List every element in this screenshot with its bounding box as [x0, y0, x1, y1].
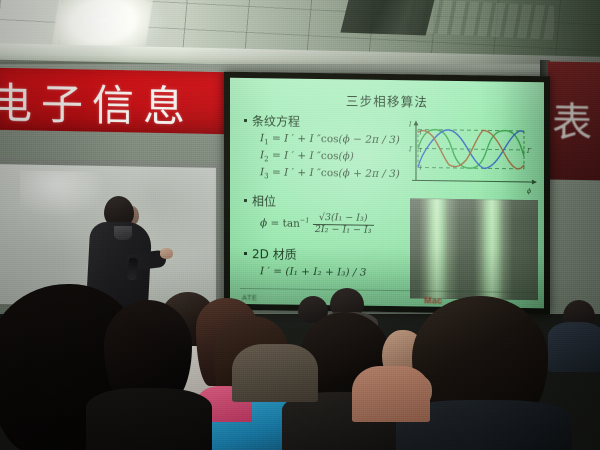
eq1-iprime: I ′	[284, 133, 294, 145]
eq3-sub: 3	[264, 173, 268, 181]
slide-footer: ATE Mac	[242, 288, 542, 306]
banner-left: 电子信息	[0, 68, 228, 134]
gridline-mid	[418, 148, 524, 149]
eq3-cos: cos	[321, 167, 339, 179]
label-i-bot: I	[419, 165, 423, 171]
phase-shift-waveform-chart: I I I I I″ I′ ϕ	[406, 118, 540, 196]
slide-footer-right-text: Mac	[424, 296, 442, 306]
phase-tan: tan	[283, 218, 300, 230]
audience-torso	[352, 366, 430, 422]
audience-shirt	[196, 386, 252, 422]
phase-tan-exp: −1	[300, 216, 310, 224]
eq1-sub: 1	[264, 138, 268, 146]
slide-title: 三步相移算法	[230, 89, 544, 112]
audience-head-foreground	[412, 296, 548, 424]
fringe-pattern-image	[410, 198, 538, 300]
y-axis-arrow	[414, 120, 419, 125]
eq3-idprime: I ″	[310, 167, 321, 179]
slide-body-left: 条纹方程 I1 = I ′ + I ″cos(ϕ − 2π / 3) I2 = …	[244, 112, 412, 282]
eq2-equals: =	[272, 149, 281, 161]
y-axis-label: I	[408, 121, 412, 128]
banner-left-text: 电子信息	[0, 70, 234, 136]
equation-i1: I1 = I ′ + I ″cos(ϕ − 2π / 3)	[260, 132, 412, 148]
eq1-plus: +	[297, 133, 306, 145]
eq3-iprime: I ′	[284, 167, 294, 179]
axis-left-label: I′	[408, 146, 413, 153]
audience-torso	[548, 322, 600, 372]
equation-i3: I3 = I ′ + I ″cos(ϕ + 2π / 3)	[260, 166, 412, 182]
slide-bullet-heading-2: 相位	[244, 192, 412, 211]
slide-bullet-heading-3: 2D 材质	[244, 245, 412, 264]
audience-head	[396, 374, 432, 408]
eq2-sub: 2	[264, 155, 268, 163]
eq3-plus: +	[297, 167, 306, 179]
phase-fraction: √3(I₁ − I₃) 2I₂ − I₁ − I₃	[313, 213, 374, 235]
eq2-plus: +	[297, 150, 306, 162]
slide-footer-left-text: ATE	[242, 293, 258, 302]
audience-torso	[232, 344, 318, 402]
audience-torso	[86, 388, 212, 450]
eq2-idprime: I ″	[310, 150, 321, 162]
projection-screen: 三步相移算法 条纹方程 I1 = I ′ + I ″cos(ϕ − 2π / 3…	[230, 78, 544, 308]
banner-right: 表	[548, 61, 600, 180]
eq2-cos: cos	[321, 150, 339, 162]
equation-i2: I2 = I ′ + I ″cos(ϕ)	[260, 149, 412, 165]
audience-torso	[318, 312, 378, 352]
x-axis	[412, 180, 534, 182]
audience-torso	[150, 346, 234, 450]
waveform-svg: I I I I I″ I′ ϕ	[406, 118, 540, 196]
eq2-phi: ϕ	[343, 150, 350, 162]
phase-phi: ϕ	[260, 217, 267, 229]
projection-screen-frame: 三步相移算法 条纹方程 I1 = I ′ + I ″cos(ϕ − 2π / 3…	[224, 72, 550, 315]
ceiling	[0, 0, 600, 72]
audience-head-foreground	[300, 312, 390, 408]
texture-rhs: (I₁ + I₂ + I₃) / 3	[285, 265, 366, 278]
texture-equals: =	[273, 265, 282, 277]
lecture-hall-photo: 电子信息 表 三步相移算法 条纹方程 I1	[0, 0, 600, 450]
eq1-equals: =	[272, 132, 281, 144]
audience-head-foreground	[104, 300, 192, 404]
x-axis-arrow	[532, 180, 537, 185]
phase-denominator: 2I₂ − I₁ − I₃	[313, 224, 374, 235]
bullet-square-icon	[244, 119, 247, 122]
eq1-idprime: I ″	[310, 133, 321, 145]
audience-head-with-long-hair	[214, 316, 288, 420]
phase-sqrt3: √3	[319, 212, 331, 223]
phase-num-expr: (I₁ − I₃)	[331, 212, 368, 224]
equation-texture: I ′ = (I₁ + I₂ + I₃) / 3	[260, 265, 412, 279]
eq1-cos: cos	[321, 133, 339, 145]
texture-lhs: I ′	[260, 265, 270, 277]
axis-right-label: I″	[526, 148, 532, 155]
audience-head	[382, 330, 426, 382]
bullet-square-icon	[244, 199, 247, 202]
eq1-shift: − 2π / 3	[353, 134, 396, 147]
phase-equals: =	[271, 217, 280, 229]
eq3-phi: ϕ	[343, 168, 350, 180]
presenter	[86, 196, 166, 314]
eq2-iprime: I ′	[284, 150, 294, 162]
bullet-square-icon	[244, 252, 247, 255]
banner-right-text: 表	[552, 90, 592, 149]
presenter-collar	[114, 226, 132, 240]
audience-jacket	[396, 400, 572, 450]
presenter-hand	[160, 248, 173, 259]
equation-phase: ϕ = tan−1 √3(I₁ − I₃) 2I₂ − I₁ − I₃	[260, 213, 412, 237]
slide-heading-1-label: 条纹方程	[252, 114, 300, 129]
eq3-equals: =	[272, 167, 281, 179]
eq1-phi: ϕ	[343, 133, 350, 145]
audience-jacket	[190, 396, 300, 450]
slide-bullet-heading-1: 条纹方程	[244, 112, 412, 131]
slide-heading-2-label: 相位	[252, 194, 276, 208]
x-axis-label: ϕ	[527, 188, 531, 195]
audience-jacket	[282, 392, 406, 450]
eq3-shift: + 2π / 3	[353, 168, 396, 181]
fringe-shading	[410, 198, 538, 300]
ceiling-shading	[0, 0, 600, 72]
slide-heading-3-label: 2D 材质	[252, 247, 297, 262]
